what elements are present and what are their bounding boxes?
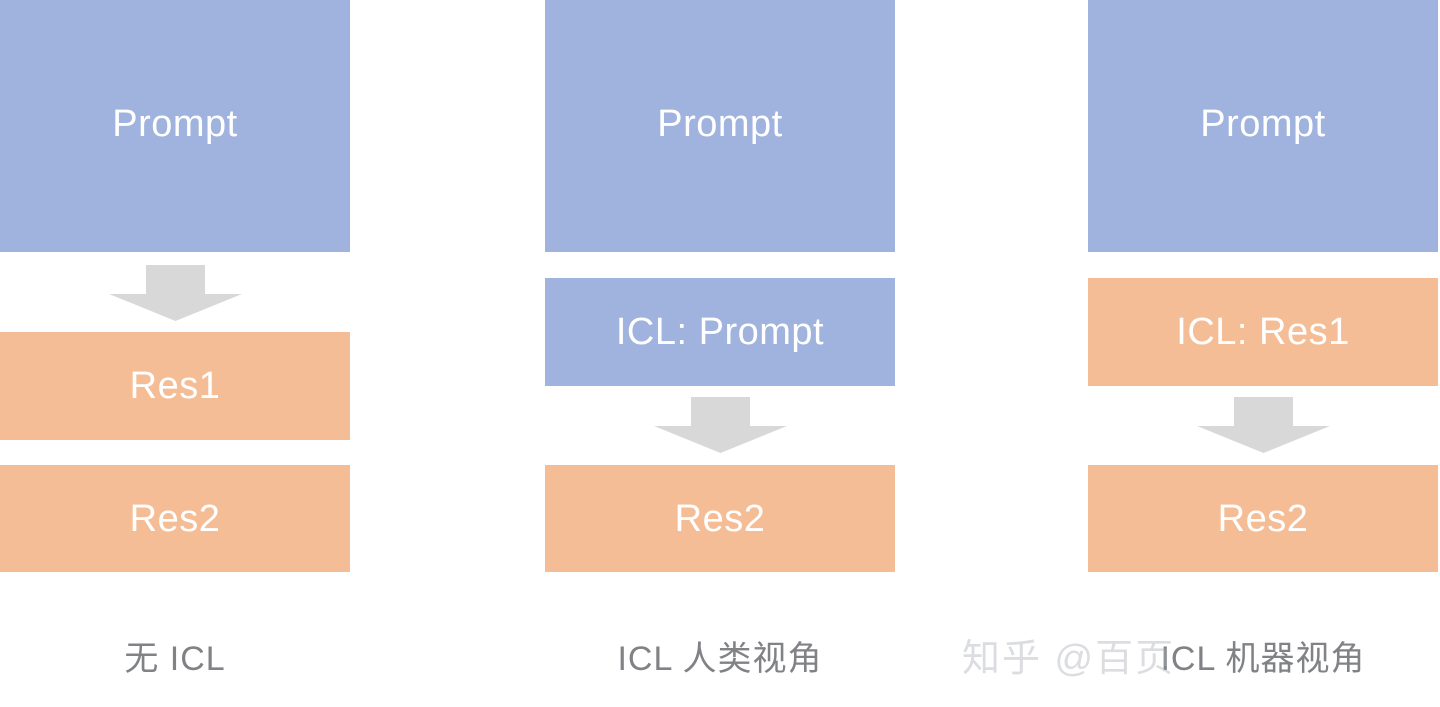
diagram-column-icl-human-view: Prompt ICL: Prompt Res2 ICL 人类视角: [545, 0, 895, 707]
box-icl-prompt-col2: ICL: Prompt: [545, 278, 895, 386]
box-res2-col2: Res2: [545, 465, 895, 572]
down-arrow-icon-col1: [109, 265, 242, 321]
box-prompt-col2: Prompt: [545, 0, 895, 252]
box-res2-col3: Res2: [1088, 465, 1438, 572]
caption-icl-machine-view: ICL 机器视角: [1088, 620, 1438, 690]
box-prompt-col3: Prompt: [1088, 0, 1438, 252]
caption-no-icl: 无 ICL: [0, 620, 350, 690]
box-icl-res1-col3: ICL: Res1: [1088, 278, 1438, 386]
down-arrow-icon-col2: [654, 397, 787, 453]
diagram-column-icl-machine-view: Prompt ICL: Res1 Res2 ICL 机器视角: [1088, 0, 1438, 707]
box-res2-col1: Res2: [0, 465, 350, 572]
diagram-canvas: Prompt Res1 Res2 无 ICL Prompt ICL: Promp…: [0, 0, 1440, 707]
down-arrow-icon-col3: [1197, 397, 1330, 453]
diagram-column-no-icl: Prompt Res1 Res2 无 ICL: [0, 0, 350, 707]
caption-icl-human-view: ICL 人类视角: [545, 620, 895, 690]
box-res1-col1: Res1: [0, 332, 350, 440]
box-prompt-col1: Prompt: [0, 0, 350, 252]
